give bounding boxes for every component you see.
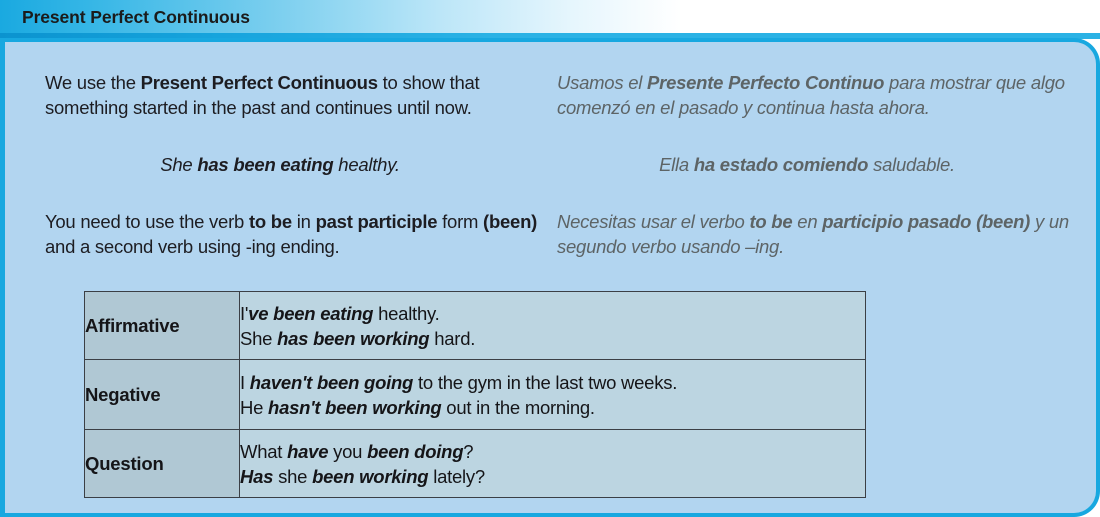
row-content-affirmative: I've been eating healthy. She has been w… [240, 292, 866, 360]
table-row: Negative I haven't been going to the gym… [85, 360, 866, 430]
line-text: He [240, 397, 268, 418]
row-content-negative: I haven't been going to the gym in the l… [240, 360, 866, 430]
english-example-after: healthy. [333, 154, 399, 175]
content-panel: We use the Present Perfect Continuous to… [0, 38, 1100, 517]
spanish-example-sentence: Ella ha estado comiendo saludable. [557, 152, 1057, 177]
english-rule-bold1: to be [249, 211, 292, 232]
english-rule-paragraph: You need to use the verb to be in past p… [45, 209, 545, 259]
english-example-sentence: She has been eating healthy. [45, 152, 515, 177]
example-line: Has she been working lately? [240, 464, 865, 489]
line-text: I' [240, 303, 248, 324]
spanish-intro-paragraph: Usamos el Presente Perfecto Continuo par… [557, 70, 1077, 120]
spanish-intro-bold: Presente Perfecto Continuo [647, 72, 884, 93]
example-line: I've been eating healthy. [240, 301, 865, 326]
line-emphasis: Has [240, 466, 273, 487]
line-text: What [240, 441, 287, 462]
page-title: Present Perfect Continuous [22, 7, 250, 28]
english-rule-part3: form [437, 211, 483, 232]
example-line: What have you been doing? [240, 439, 865, 464]
spanish-rule-bold2: participio pasado [822, 211, 971, 232]
line-emphasis: been doing [367, 441, 463, 462]
slide-root: Present Perfect Continuous We use the Pr… [0, 0, 1100, 517]
line-text: ? [463, 441, 473, 462]
english-rule-part4: and a second verb using -ing ending. [45, 236, 339, 257]
spanish-example-after: saludable. [868, 154, 955, 175]
spanish-rule-part2: en [792, 211, 822, 232]
line-emphasis: have [287, 441, 328, 462]
line-text: She [240, 328, 277, 349]
english-intro-bold: Present Perfect Continuous [141, 72, 378, 93]
spanish-example-before: Ella [659, 154, 694, 175]
line-text: to the gym in the last two weeks. [413, 372, 677, 393]
row-label-affirmative: Affirmative [85, 292, 240, 360]
example-line: I haven't been going to the gym in the l… [240, 370, 865, 395]
spanish-rule-paragraph: Necesitas usar el verbo to be en partici… [557, 209, 1077, 259]
line-emphasis: has been working [277, 328, 429, 349]
english-rule-bold3: (been) [483, 211, 537, 232]
table-row: Affirmative I've been eating healthy. Sh… [85, 292, 866, 360]
line-text: lately? [428, 466, 485, 487]
line-text: hard. [429, 328, 475, 349]
english-intro-paragraph: We use the Present Perfect Continuous to… [45, 70, 545, 120]
line-text: healthy. [373, 303, 439, 324]
line-emphasis: ve been eating [248, 303, 373, 324]
line-text: out in the morning. [441, 397, 594, 418]
english-example-before: She [160, 154, 197, 175]
line-emphasis: been working [312, 466, 428, 487]
example-line: He hasn't been working out in the mornin… [240, 395, 865, 420]
line-text: I [240, 372, 250, 393]
spanish-intro-before: Usamos el [557, 72, 647, 93]
line-text: she [273, 466, 312, 487]
english-intro-before: We use the [45, 72, 141, 93]
english-example-bold: has been eating [197, 154, 333, 175]
spanish-rule-bold3: (been) [976, 211, 1030, 232]
row-content-question: What have you been doing? Has she been w… [240, 430, 866, 498]
forms-table-wrapper: Affirmative I've been eating healthy. Sh… [84, 291, 866, 498]
row-label-negative: Negative [85, 360, 240, 430]
table-row: Question What have you been doing? Has s… [85, 430, 866, 498]
spanish-example-bold: ha estado comiendo [694, 154, 868, 175]
row-label-question: Question [85, 430, 240, 498]
line-emphasis: hasn't been working [268, 397, 441, 418]
forms-table: Affirmative I've been eating healthy. Sh… [84, 291, 866, 498]
english-rule-part1: You need to use the verb [45, 211, 249, 232]
line-emphasis: haven't been going [250, 372, 413, 393]
line-text: you [328, 441, 367, 462]
english-rule-bold2: past participle [316, 211, 438, 232]
spanish-rule-bold1: to be [749, 211, 792, 232]
example-line: She has been working hard. [240, 326, 865, 351]
spanish-rule-part1: Necesitas usar el verbo [557, 211, 749, 232]
english-rule-part2: in [292, 211, 316, 232]
